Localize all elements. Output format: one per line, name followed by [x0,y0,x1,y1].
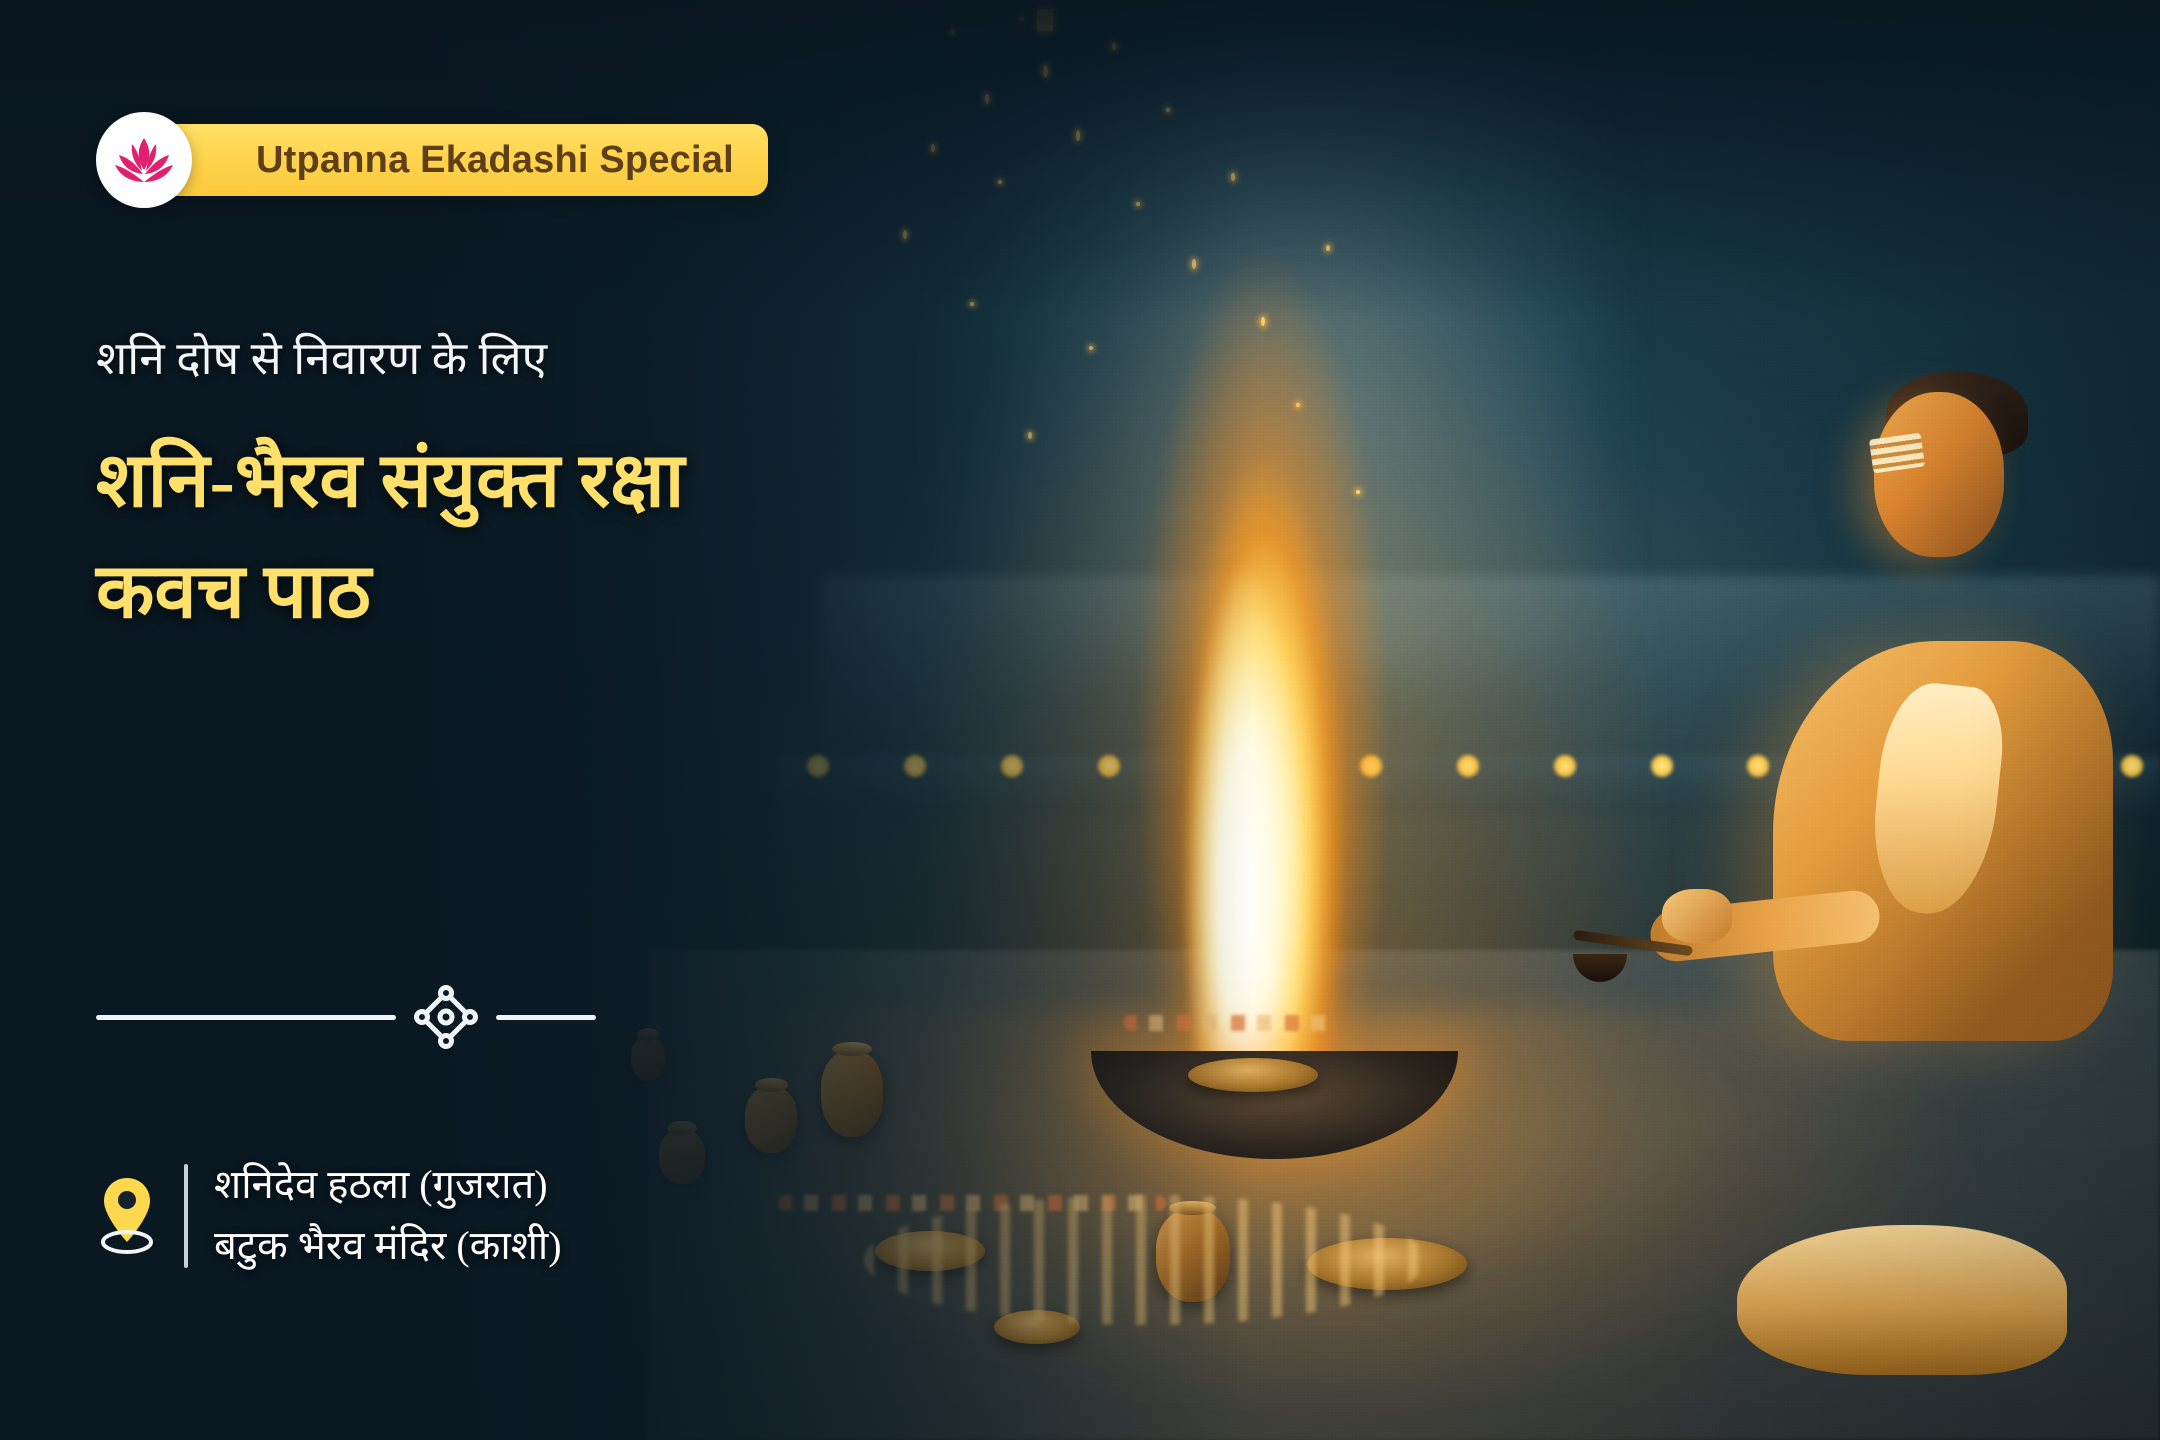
ornamental-divider [96,985,644,1049]
priest-head [1874,392,2004,557]
headline-line-1: शनि-भैरव संयुक्त रक्षा [96,428,996,536]
divider-line-left [96,1015,396,1020]
divider-line-right [496,1015,596,1020]
location-text: शनिदेव हठला (गुजरात) बटुक भैरव मंदिर (का… [214,1155,562,1277]
location-block: शनिदेव हठला (गुजरात) बटुक भैरव मंदिर (का… [96,1155,562,1277]
badge-label: Utpanna Ekadashi Special [256,139,734,182]
location-line-1: शनिदेव हठला (गुजरात) [214,1155,562,1216]
priest-legs [1737,1225,2067,1375]
special-badge[interactable]: Utpanna Ekadashi Special [96,112,192,208]
lotus-icon [113,134,175,186]
poster-root: Utpanna Ekadashi Special शनि दोष से निवा… [0,0,2160,1440]
location-line-2: बटुक भैरव मंदिर (काशी) [214,1216,562,1277]
priest-hand [1662,889,1732,943]
havan-ladle-cup [1573,954,1627,982]
diamond-ornament-icon [396,985,496,1049]
badge-icon-circle [96,112,192,208]
eyebrow-text: शनि दोष से निवारण के लिए [96,330,996,388]
tripundra-tilak [1869,432,1925,473]
headline-line-2: कवच पाठ [96,539,996,647]
priest-figure [1382,360,2160,1440]
location-divider-rule [184,1164,188,1268]
map-pin-icon [96,1170,158,1262]
badge-pill[interactable]: Utpanna Ekadashi Special [160,124,768,196]
headline-block: शनि दोष से निवारण के लिए शनि-भैरव संयुक्… [96,330,996,647]
